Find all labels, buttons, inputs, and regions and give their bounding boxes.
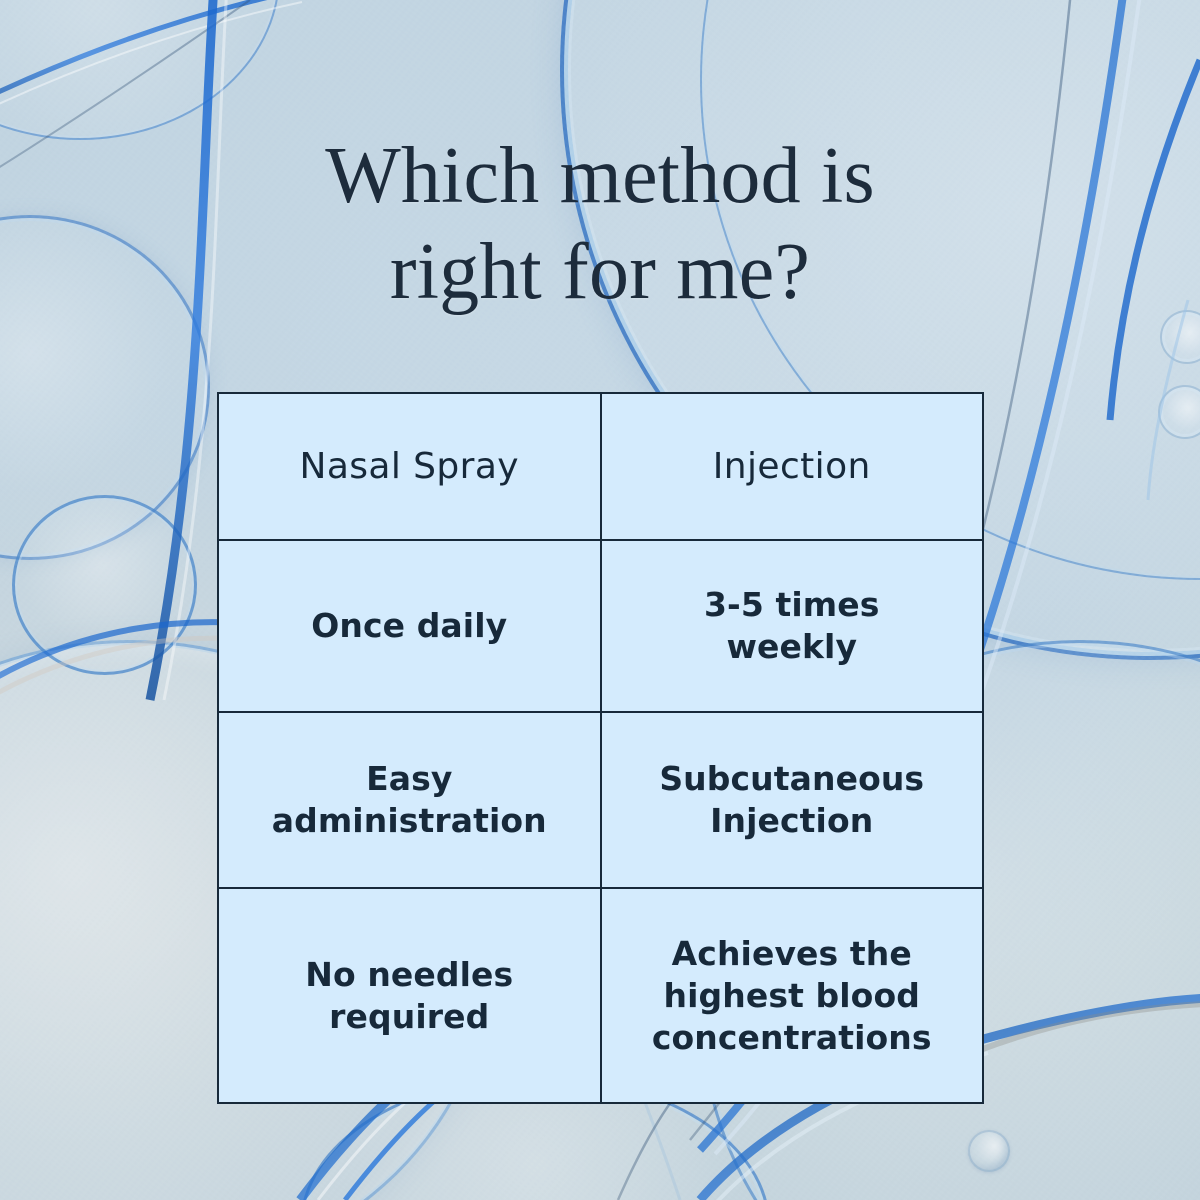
cell-nasal-spray-administration: Easy administration — [218, 712, 601, 888]
table-row-benefit: No needles required Achieves the highest… — [218, 888, 983, 1103]
cell-text: Achieves the highest blood concentration… — [616, 933, 969, 1059]
infographic-canvas: Which method is right for me? Nasal Spra… — [0, 0, 1200, 1200]
cell-text: Easy administration — [233, 758, 586, 842]
cell-injection-benefit: Achieves the highest blood concentration… — [601, 888, 984, 1103]
table-header-nasal-spray: Nasal Spray — [218, 393, 601, 540]
cell-text: 3-5 times weekly — [616, 584, 969, 668]
cell-text: Subcutaneous Injection — [616, 758, 969, 842]
page-title: Which method is right for me? — [0, 128, 1200, 320]
cell-nasal-spray-frequency: Once daily — [218, 540, 601, 712]
cell-injection-administration: Subcutaneous Injection — [601, 712, 984, 888]
comparison-table: Nasal Spray Injection Once daily 3-5 tim… — [217, 392, 984, 1104]
table-header-injection: Injection — [601, 393, 984, 540]
cell-text: Once daily — [233, 605, 586, 647]
page-title-line-2: right for me? — [0, 224, 1200, 320]
table-header-row: Nasal Spray Injection — [218, 393, 983, 540]
cell-text: No needles required — [233, 954, 586, 1038]
table-row-frequency: Once daily 3-5 times weekly — [218, 540, 983, 712]
page-title-line-1: Which method is — [0, 128, 1200, 224]
cell-nasal-spray-benefit: No needles required — [218, 888, 601, 1103]
table-row-administration: Easy administration Subcutaneous Injecti… — [218, 712, 983, 888]
cell-injection-frequency: 3-5 times weekly — [601, 540, 984, 712]
